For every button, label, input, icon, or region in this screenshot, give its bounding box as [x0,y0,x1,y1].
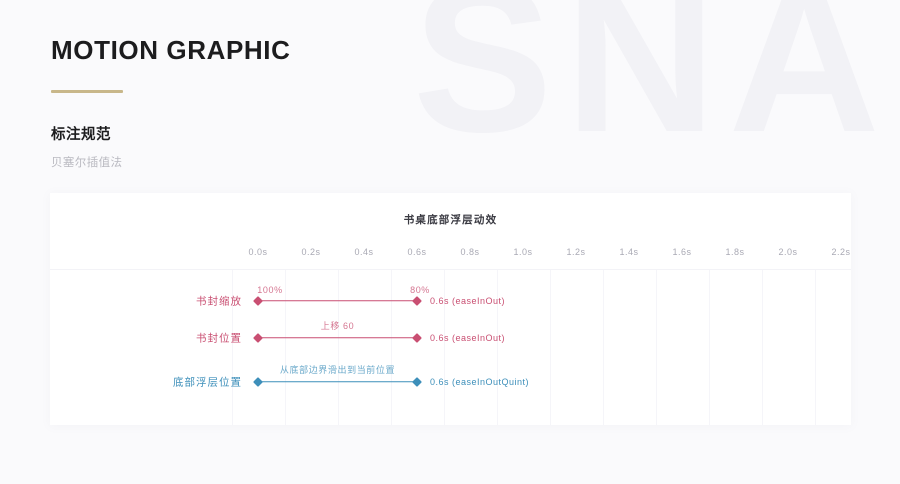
track-end-caption: 80% [410,285,430,295]
track-duration-label: 0.6s (easeInOut) [430,296,505,306]
axis-tick-label: 0.2s [301,247,320,257]
axis-tick-label: 2.0s [778,247,797,257]
timeline-track: 底部浮层位置从底部边界滑出到当前位置0.6s (easeInOutQuint) [50,363,851,400]
track-label: 书封缩放 [92,293,242,308]
chart-card: 书桌底部浮层动效 0.0s0.2s0.4s0.6s0.8s1.0s1.2s1.4… [50,193,851,425]
axis-tick-label: 2.2s [831,247,850,257]
keyframe-end-marker[interactable] [412,377,422,387]
keyframe-start-marker[interactable] [253,333,263,343]
track-bar[interactable] [258,337,417,339]
track-start-caption: 100% [257,285,282,295]
axis-tick-label: 1.2s [566,247,585,257]
track-bar[interactable] [258,300,417,302]
axis-tick-label: 1.6s [672,247,691,257]
section-title: 标注规范 [51,123,291,144]
axis-tick-label: 1.8s [725,247,744,257]
axis-tick-label: 0.8s [460,247,479,257]
section-subtitle: 贝塞尔插值法 [51,154,291,170]
keyframe-end-marker[interactable] [412,296,422,306]
chart-title: 书桌底部浮层动效 [50,193,851,227]
track-duration-label: 0.6s (easeInOutQuint) [430,377,529,387]
timeline-track: 书封位置上移 600.6s (easeInOut) [50,319,851,356]
axis-tick-label: 0.6s [407,247,426,257]
track-mid-caption: 从底部边界滑出到当前位置 [280,363,395,376]
keyframe-end-marker[interactable] [412,333,422,343]
axis-tick-label: 1.4s [619,247,638,257]
track-mid-caption: 上移 60 [321,319,355,332]
timeline-plot: 0.0s0.2s0.4s0.6s0.8s1.0s1.2s1.4s1.6s1.8s… [50,241,851,425]
axis-tick-label: 0.0s [248,247,267,257]
timeline-tracks: 书封缩放100%80%0.6s (easeInOut)书封位置上移 600.6s… [50,270,851,425]
page-title: MOTION GRAPHIC [51,36,291,66]
track-duration-label: 0.6s (easeInOut) [430,333,505,343]
track-label: 书封位置 [92,330,242,345]
time-axis: 0.0s0.2s0.4s0.6s0.8s1.0s1.2s1.4s1.6s1.8s… [50,241,851,269]
axis-tick-label: 1.0s [513,247,532,257]
axis-tick-label: 0.4s [354,247,373,257]
page-header: MOTION GRAPHIC 标注规范 贝塞尔插值法 [51,36,291,170]
title-divider [51,90,123,93]
keyframe-start-marker[interactable] [253,377,263,387]
keyframe-start-marker[interactable] [253,296,263,306]
watermark-sna: SNA [413,0,892,164]
track-label: 底部浮层位置 [92,374,242,389]
timeline-track: 书封缩放100%80%0.6s (easeInOut) [50,282,851,319]
track-bar[interactable] [258,381,417,383]
